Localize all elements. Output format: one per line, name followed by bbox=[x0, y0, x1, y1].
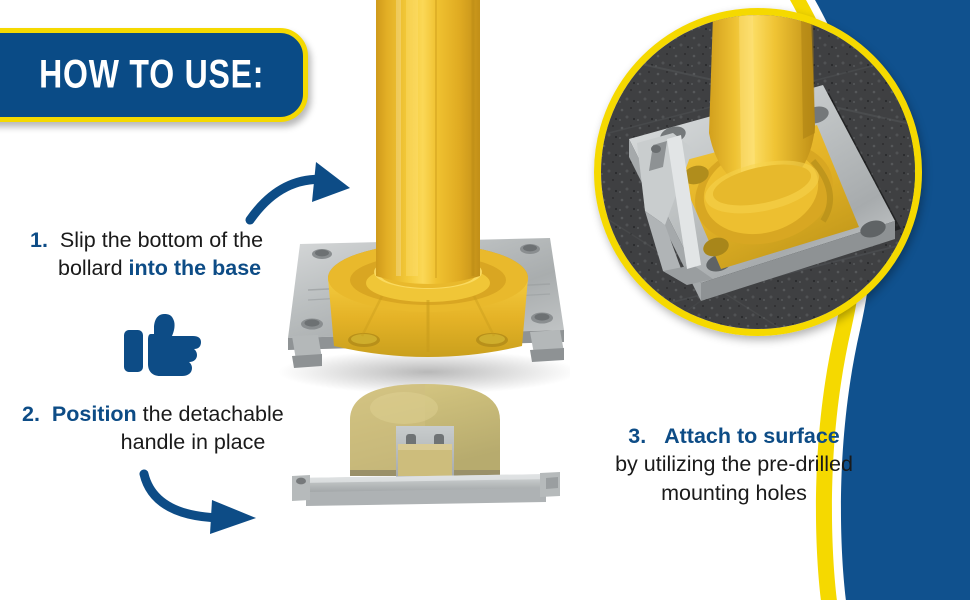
base-plate-on-concrete-inset-photo bbox=[594, 8, 922, 336]
banner-title-label: HOW TO USE: bbox=[39, 53, 264, 98]
how-to-use-banner: HOW TO USE: bbox=[0, 28, 308, 122]
step-3-number: 3. bbox=[628, 424, 646, 448]
step-3-text: 3. Attach to surface by utilizing the pr… bbox=[584, 422, 884, 507]
step-3-line2: by utilizing the pre-drilled bbox=[615, 452, 853, 476]
step-2-line1-plain: the detachable bbox=[137, 402, 284, 426]
step-3-line3: mounting holes bbox=[661, 481, 807, 505]
step-1-line2-bold: into the base bbox=[129, 256, 262, 280]
banner-title-text: HOW TO USE: bbox=[0, 53, 303, 98]
curved-arrow-up-right-icon bbox=[244, 158, 368, 230]
step-2-text: 2. Position the detachable handle in pla… bbox=[22, 400, 338, 457]
step-3-line1-bold: Attach to surface bbox=[664, 424, 840, 448]
step-1-line2-plain: bollard bbox=[58, 256, 129, 280]
infographic-canvas: HOW TO USE: 1. Slip the bottom of the bo… bbox=[0, 0, 970, 600]
step-1-text: 1. Slip the bottom of the bollard into t… bbox=[30, 226, 322, 283]
thumbs-up-icon bbox=[124, 312, 202, 378]
step-2-line1-bold: Position bbox=[52, 402, 137, 426]
step-2-number: 2. bbox=[22, 402, 40, 426]
curved-arrow-down-right-icon bbox=[136, 468, 276, 540]
step-2-line2: handle in place bbox=[121, 430, 266, 454]
step-1-number: 1. bbox=[30, 228, 48, 252]
step-1-line1: Slip the bottom of the bbox=[60, 228, 263, 252]
